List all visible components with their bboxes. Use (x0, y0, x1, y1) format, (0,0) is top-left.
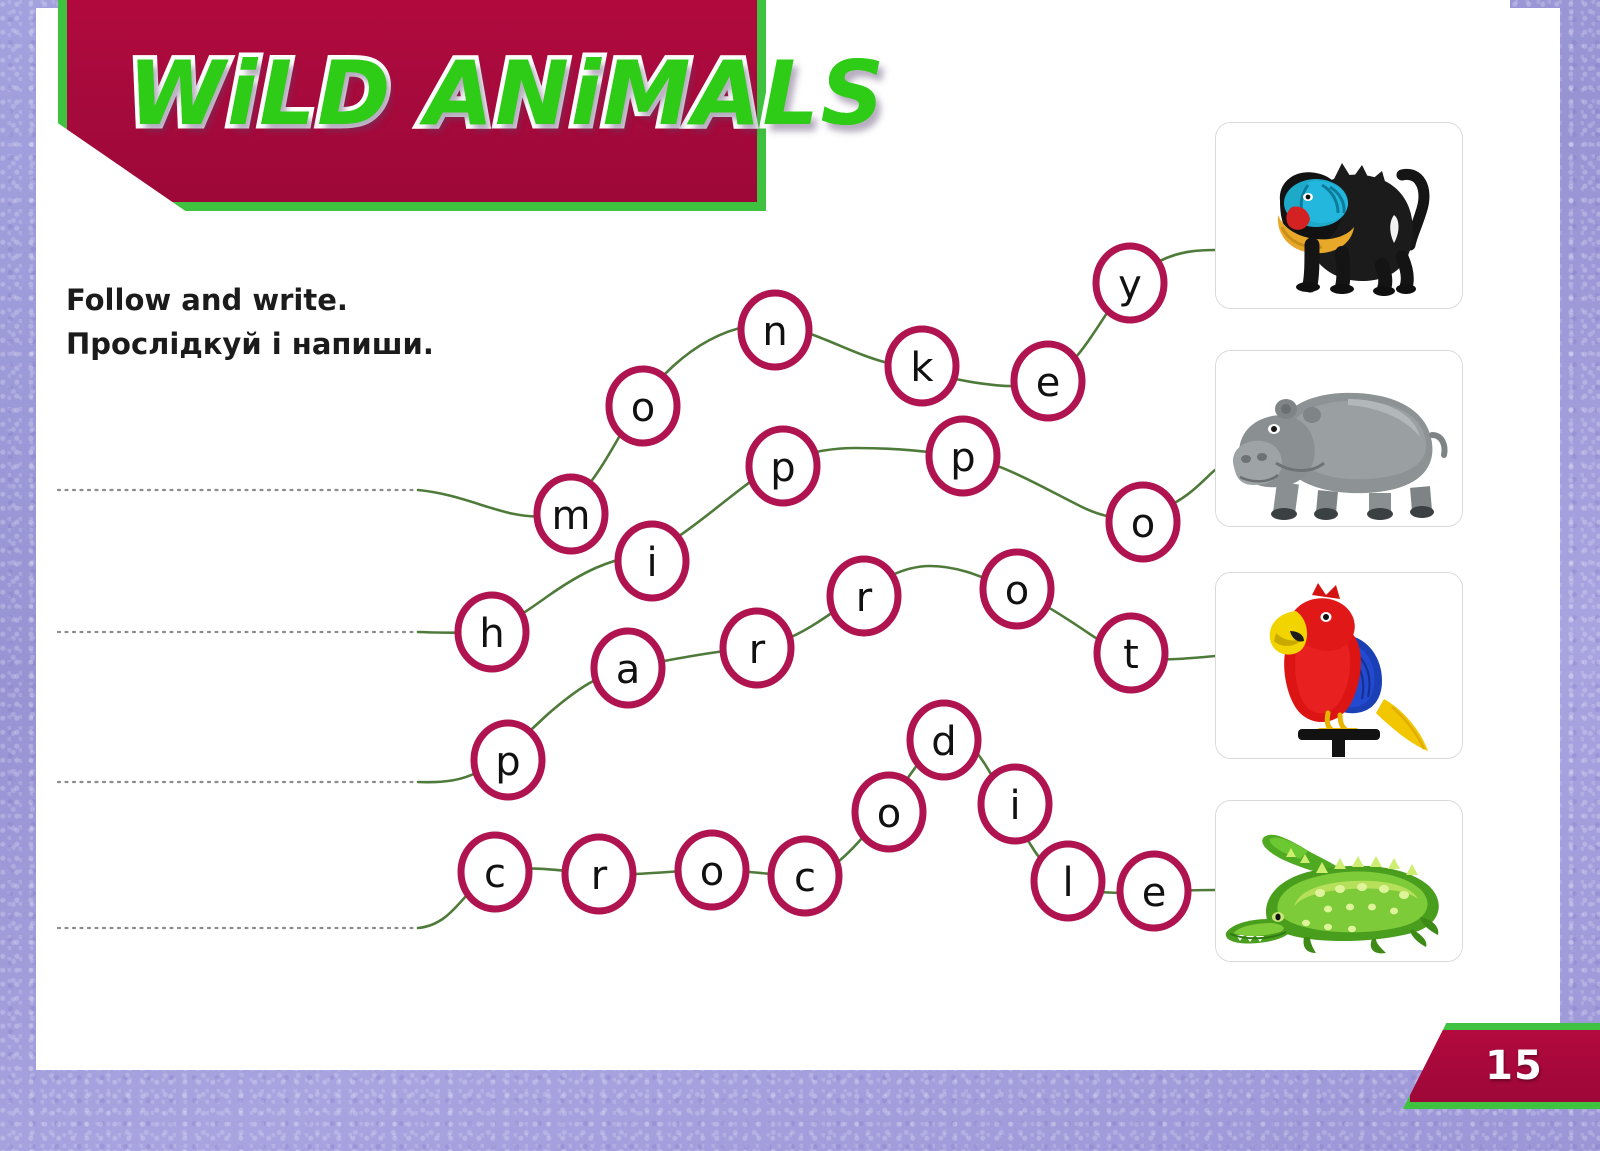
animal-card-hippo (1215, 350, 1463, 527)
bubble-letter: o (631, 385, 655, 431)
bubble-letter: p (495, 739, 520, 785)
bubble-letter: o (1131, 501, 1155, 547)
bubble-letter: i (646, 540, 657, 586)
letter-bubble-monkey-1[interactable]: o (609, 369, 677, 443)
bubble-letter: o (1005, 568, 1029, 614)
letter-bubble-monkey-5[interactable]: y (1096, 246, 1164, 320)
bubble-letter: h (479, 611, 504, 657)
letter-bubble-monkey-3[interactable]: k (888, 329, 956, 403)
bubble-letter: p (770, 445, 795, 491)
letter-bubble-parrot-2[interactable]: r (723, 611, 791, 685)
letter-bubble-parrot-5[interactable]: t (1097, 616, 1165, 690)
page-number-text: 15 (1485, 1043, 1543, 1089)
animal-card-parrot (1215, 572, 1463, 759)
letter-bubble-monkey-0[interactable]: m (537, 477, 605, 551)
animal-card-monkey (1215, 122, 1463, 309)
bubble-letter: k (910, 345, 934, 391)
monkey-illustration (1216, 123, 1462, 308)
bubble-letter: r (856, 575, 873, 621)
letter-bubble-crocodile-5[interactable]: d (910, 703, 978, 777)
letter-bubble-crocodile-6[interactable]: i (981, 767, 1049, 841)
letter-bubble-crocodile-7[interactable]: l (1034, 844, 1102, 918)
bubble-letter: r (591, 853, 608, 899)
parrot-illustration (1216, 573, 1462, 758)
bubble-letter: e (1142, 870, 1167, 916)
bubble-letter: t (1123, 632, 1139, 678)
letter-bubble-hippo-4[interactable]: o (1109, 485, 1177, 559)
letter-bubble-crocodile-8[interactable]: e (1120, 854, 1188, 928)
bubble-letter: a (616, 647, 641, 693)
bubble-letter: l (1062, 860, 1073, 906)
bubble-letter: c (484, 851, 506, 897)
letter-bubble-parrot-3[interactable]: r (830, 559, 898, 633)
animal-card-crocodile (1215, 800, 1463, 962)
letter-bubble-hippo-3[interactable]: p (929, 419, 997, 493)
writing-lines-group (58, 490, 418, 928)
bubble-letter: r (749, 627, 766, 673)
letter-bubble-crocodile-1[interactable]: r (565, 837, 633, 911)
letter-bubble-monkey-2[interactable]: n (741, 293, 809, 367)
letter-bubble-parrot-4[interactable]: o (983, 552, 1051, 626)
bubble-letter: i (1009, 783, 1020, 829)
worksheet-page: WiLD ANiMALS WiLD ANiMALS Follow and wri… (0, 0, 1600, 1151)
bubble-letter: d (931, 719, 956, 765)
bubble-letter: e (1036, 360, 1061, 406)
bubble-letter: p (950, 435, 975, 481)
letter-bubble-monkey-4[interactable]: e (1014, 344, 1082, 418)
letter-bubble-hippo-1[interactable]: i (618, 524, 686, 598)
trail-paths-group (418, 250, 1215, 928)
letter-bubble-crocodile-0[interactable]: c (461, 835, 529, 909)
bubble-letter: o (877, 791, 901, 837)
letter-bubble-hippo-2[interactable]: p (749, 429, 817, 503)
bubble-letter: o (700, 849, 724, 895)
bubble-letter: y (1118, 262, 1142, 308)
crocodile-illustration (1216, 801, 1462, 961)
letter-bubble-parrot-0[interactable]: p (474, 723, 542, 797)
letter-bubble-crocodile-3[interactable]: c (771, 839, 839, 913)
letter-bubble-parrot-1[interactable]: a (594, 631, 662, 705)
hippo-illustration (1216, 351, 1462, 526)
bubble-letter: n (762, 309, 787, 355)
bubble-letter: c (794, 855, 816, 901)
letter-bubble-crocodile-2[interactable]: o (678, 833, 746, 907)
bubble-letter: m (552, 493, 591, 539)
letter-bubble-crocodile-4[interactable]: o (855, 775, 923, 849)
letter-bubbles-group: monkeyhippoparrotcrocodile (458, 246, 1188, 928)
letter-bubble-hippo-0[interactable]: h (458, 595, 526, 669)
